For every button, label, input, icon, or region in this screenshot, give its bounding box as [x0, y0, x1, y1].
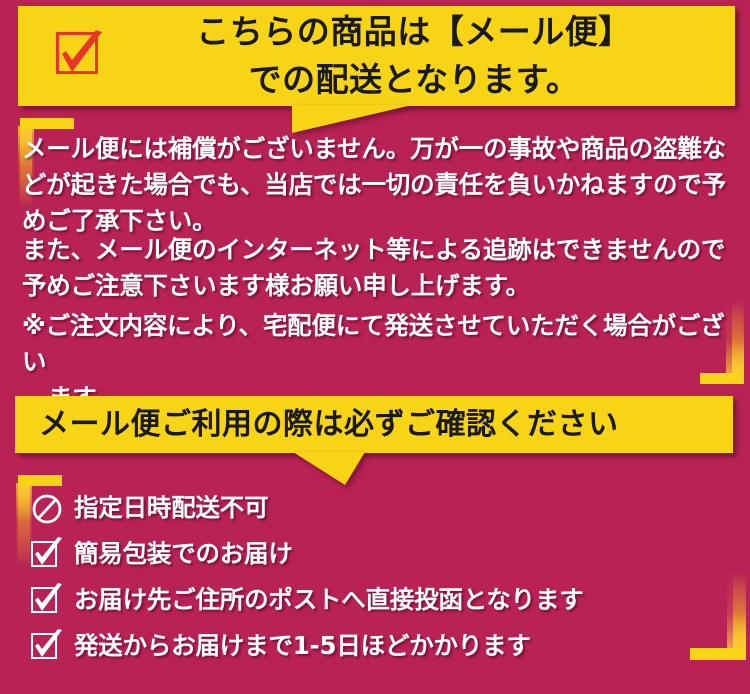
sub-banner-tail	[293, 452, 365, 485]
bracket-gradient-streak	[726, 300, 742, 376]
list-item-label: 発送からお届けまで1-5日ほどかかります	[74, 629, 531, 663]
header-banner: こちらの商品は【メール便】 での配送となります。	[18, 6, 735, 106]
prohibition-icon	[30, 491, 64, 525]
notice-paragraph-3-head: ※ご注文内容により、宅配便にて発送させていただく場合がござい	[22, 311, 725, 376]
header-banner-tail	[292, 105, 412, 133]
bracket-arm-horizontal	[700, 373, 744, 384]
bracket-arm-horizontal	[18, 475, 62, 486]
checkbox-checked-icon	[30, 629, 64, 663]
bracket-arm-horizontal	[690, 648, 746, 660]
checklist: 指定日時配送不可 簡易包装でのお届け お届け先ご住所のポストへ直接投函となります	[30, 487, 730, 671]
sub-banner-title: メール便ご利用の際は必ずご確認ください	[39, 403, 619, 447]
list-item: お届け先ご住所のポストへ直接投函となります	[30, 579, 730, 620]
bracket-gradient-streak	[727, 572, 744, 650]
list-item: 指定日時配送不可	[30, 487, 730, 528]
checkbox-checked-icon	[54, 28, 106, 80]
notice-paragraph-2: また、メール便のインターネット等による追跡はできませんので予めご注意下さいます様…	[22, 232, 732, 304]
header-banner-text: こちらの商品は【メール便】 での配送となります。	[114, 8, 714, 104]
header-banner-line1: こちらの商品は【メール便】	[196, 12, 632, 51]
checkbox-checked-icon	[30, 583, 64, 617]
sub-banner: メール便ご利用の際は必ずご確認ください	[15, 396, 733, 453]
header-banner-line2: での配送となります。	[114, 56, 714, 104]
notice-paragraph-1: メール便には補償がございません。万が一の事故や商品の盗難などが起きた場合でも、当…	[22, 131, 732, 239]
mail-delivery-notice-banner: こちらの商品は【メール便】 での配送となります。 メール便には補償がございません…	[0, 0, 750, 694]
list-item: 発送からお届けまで1-5日ほどかかります	[30, 625, 730, 666]
corner-bracket-right-middle	[700, 300, 744, 384]
list-item: 簡易包装でのお届け	[30, 533, 730, 574]
list-item-label: 簡易包装でのお届け	[74, 537, 293, 571]
list-item-label: お届け先ご住所のポストへ直接投函となります	[74, 583, 584, 617]
list-item-label: 指定日時配送不可	[74, 491, 268, 525]
corner-bracket-bottom-right	[690, 572, 746, 660]
bracket-arm-horizontal	[20, 118, 74, 129]
checkbox-checked-icon	[30, 537, 64, 571]
